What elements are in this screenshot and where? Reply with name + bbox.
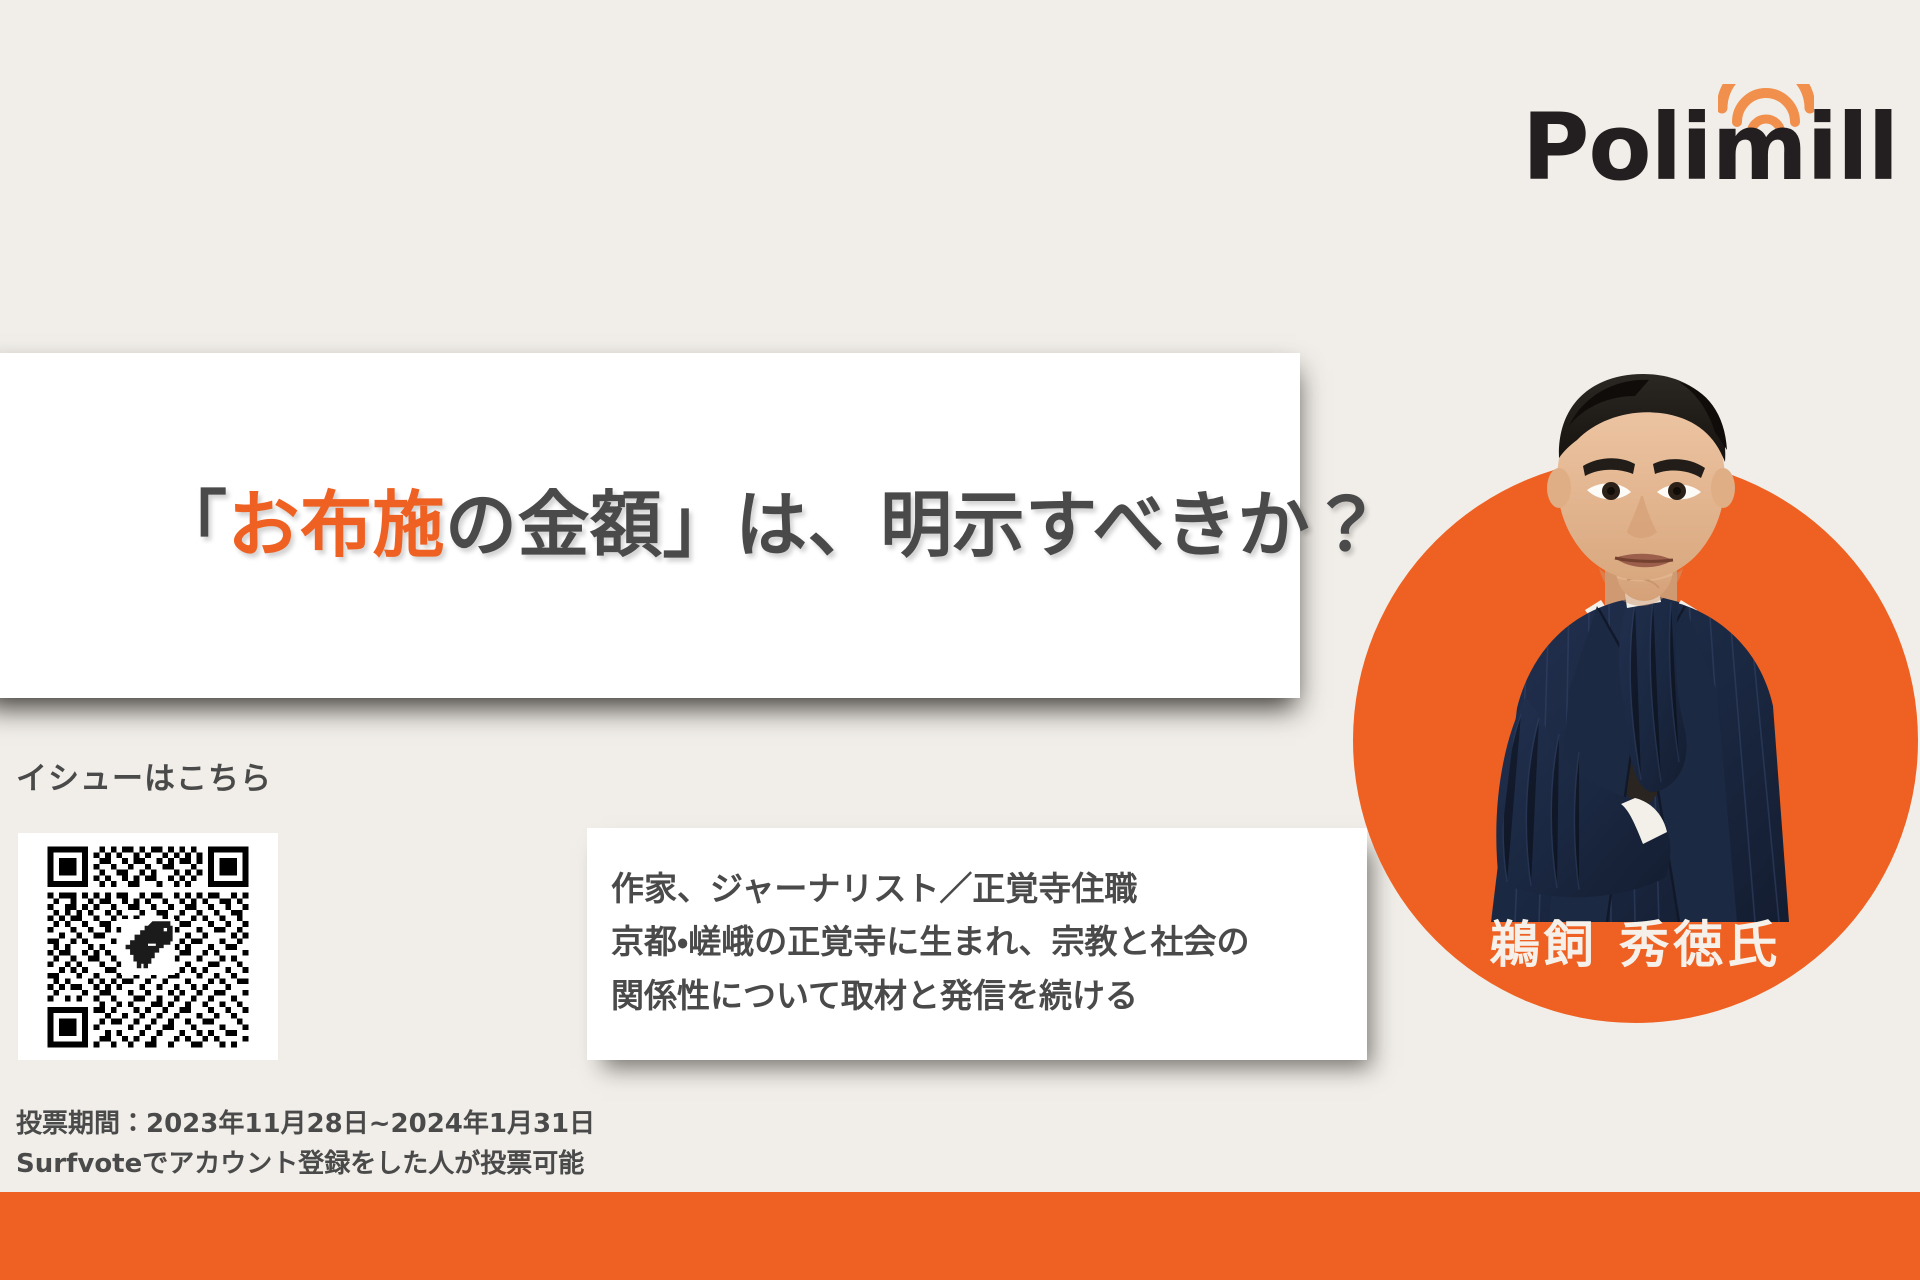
speaker-name: 鵜飼 秀徳氏: [1353, 905, 1918, 977]
vote-eligibility: Surfvoteでアカウント登録をした人が投票可能: [16, 1144, 595, 1184]
bio-line: 京都・嵯峨の正覚寺に生まれ、宗教と社会の: [611, 915, 1367, 968]
bio-line: 関係性について取材と発信を続ける: [611, 969, 1367, 1022]
bio-line: 作家、ジャーナリスト／正覚寺住職: [611, 862, 1367, 915]
speaker-portrait: [1429, 362, 1849, 922]
title-card: 「お布施の金額」は、明示すべきか？: [0, 353, 1300, 698]
issue-label: イシューはこちら: [16, 753, 272, 798]
page-title: 「お布施の金額」は、明示すべきか？: [0, 482, 1300, 570]
bottom-accent-bar: [0, 1192, 1920, 1280]
title-open-bracket: 「: [155, 483, 228, 567]
title-bracket-rest: の金額: [445, 483, 663, 567]
polimill-logo: Polimill: [1522, 84, 1872, 194]
vote-info: 投票期間：2023年11月28日~2024年1月31日 Surfvoteでアカウ…: [16, 1104, 595, 1185]
title-highlight: お布施: [228, 483, 446, 567]
speaker-badge: 鵜飼 秀徳氏: [1353, 458, 1918, 1023]
vote-period: 投票期間：2023年11月28日~2024年1月31日: [16, 1104, 595, 1144]
qr-code-icon: [42, 841, 254, 1053]
qr-code[interactable]: [18, 833, 278, 1060]
speaker-bio-card: 作家、ジャーナリスト／正覚寺住職 京都・嵯峨の正覚寺に生まれ、宗教と社会の 関係…: [587, 828, 1367, 1060]
dinosaur-icon: [121, 919, 175, 975]
logo-wordmark: Polimill: [1522, 102, 1898, 194]
title-tail: は、明示すべきか？: [735, 483, 1382, 567]
title-close-bracket: 」: [663, 483, 736, 567]
slide-canvas: Polimill 「お布施の金額」は、明示すべきか？ イシューはこちら: [0, 0, 1920, 1280]
